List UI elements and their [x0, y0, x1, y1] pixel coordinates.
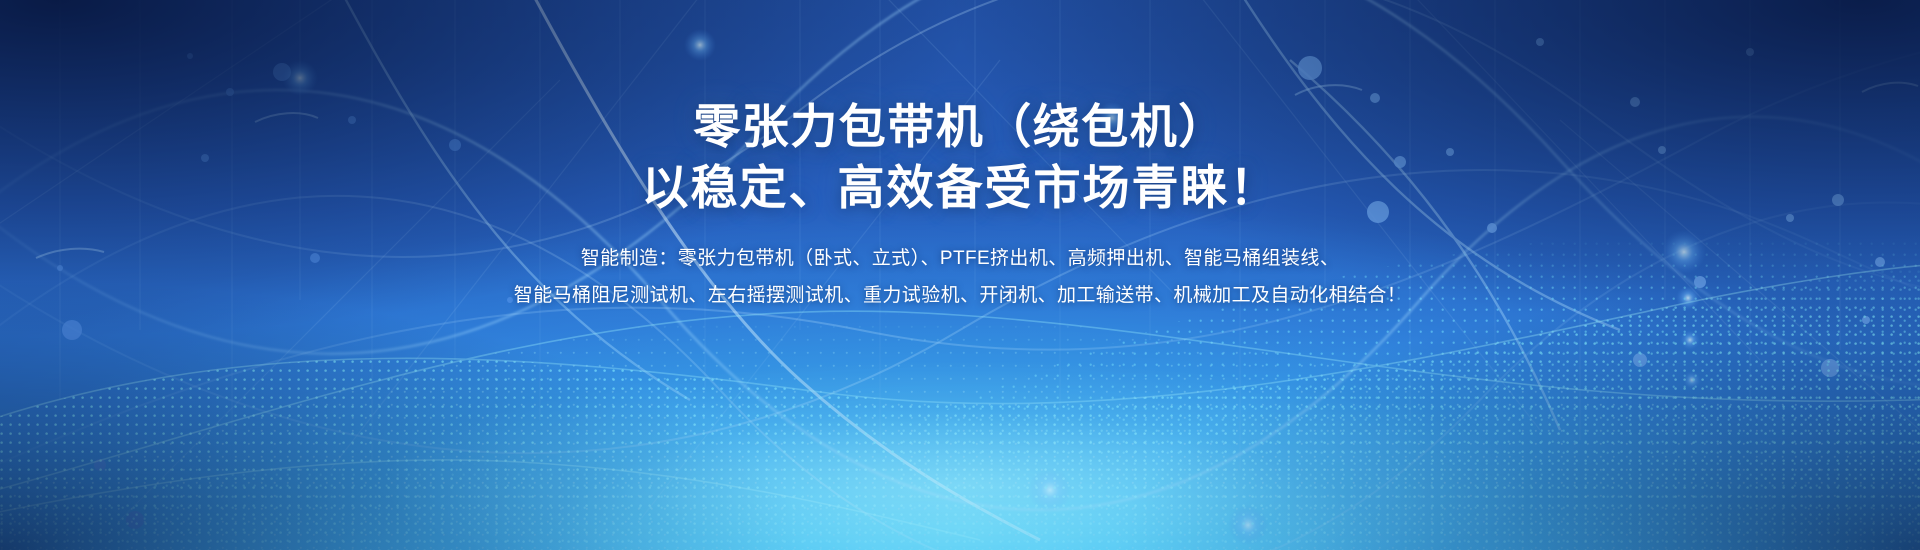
subtitle-line-1: 智能制造：零张力包带机（卧式、立式）、PTFE挤出机、高频押出机、智能马桶组装线… [514, 240, 1406, 277]
banner-content: 零张力包带机（绕包机） 以稳定、高效备受市场青睐！ 智能制造：零张力包带机（卧式… [0, 0, 1920, 550]
subtitle-block: 智能制造：零张力包带机（卧式、立式）、PTFE挤出机、高频押出机、智能马桶组装线… [514, 240, 1406, 314]
headline-line-1: 零张力包带机（绕包机） [693, 96, 1227, 157]
subtitle-line-2: 智能马桶阻尼测试机、左右摇摆测试机、重力试验机、开闭机、加工输送带、机械加工及自… [514, 277, 1406, 314]
headline-line-2: 以稳定、高效备受市场青睐！ [642, 157, 1279, 218]
hero-banner: 零张力包带机（绕包机） 以稳定、高效备受市场青睐！ 智能制造：零张力包带机（卧式… [0, 0, 1920, 550]
